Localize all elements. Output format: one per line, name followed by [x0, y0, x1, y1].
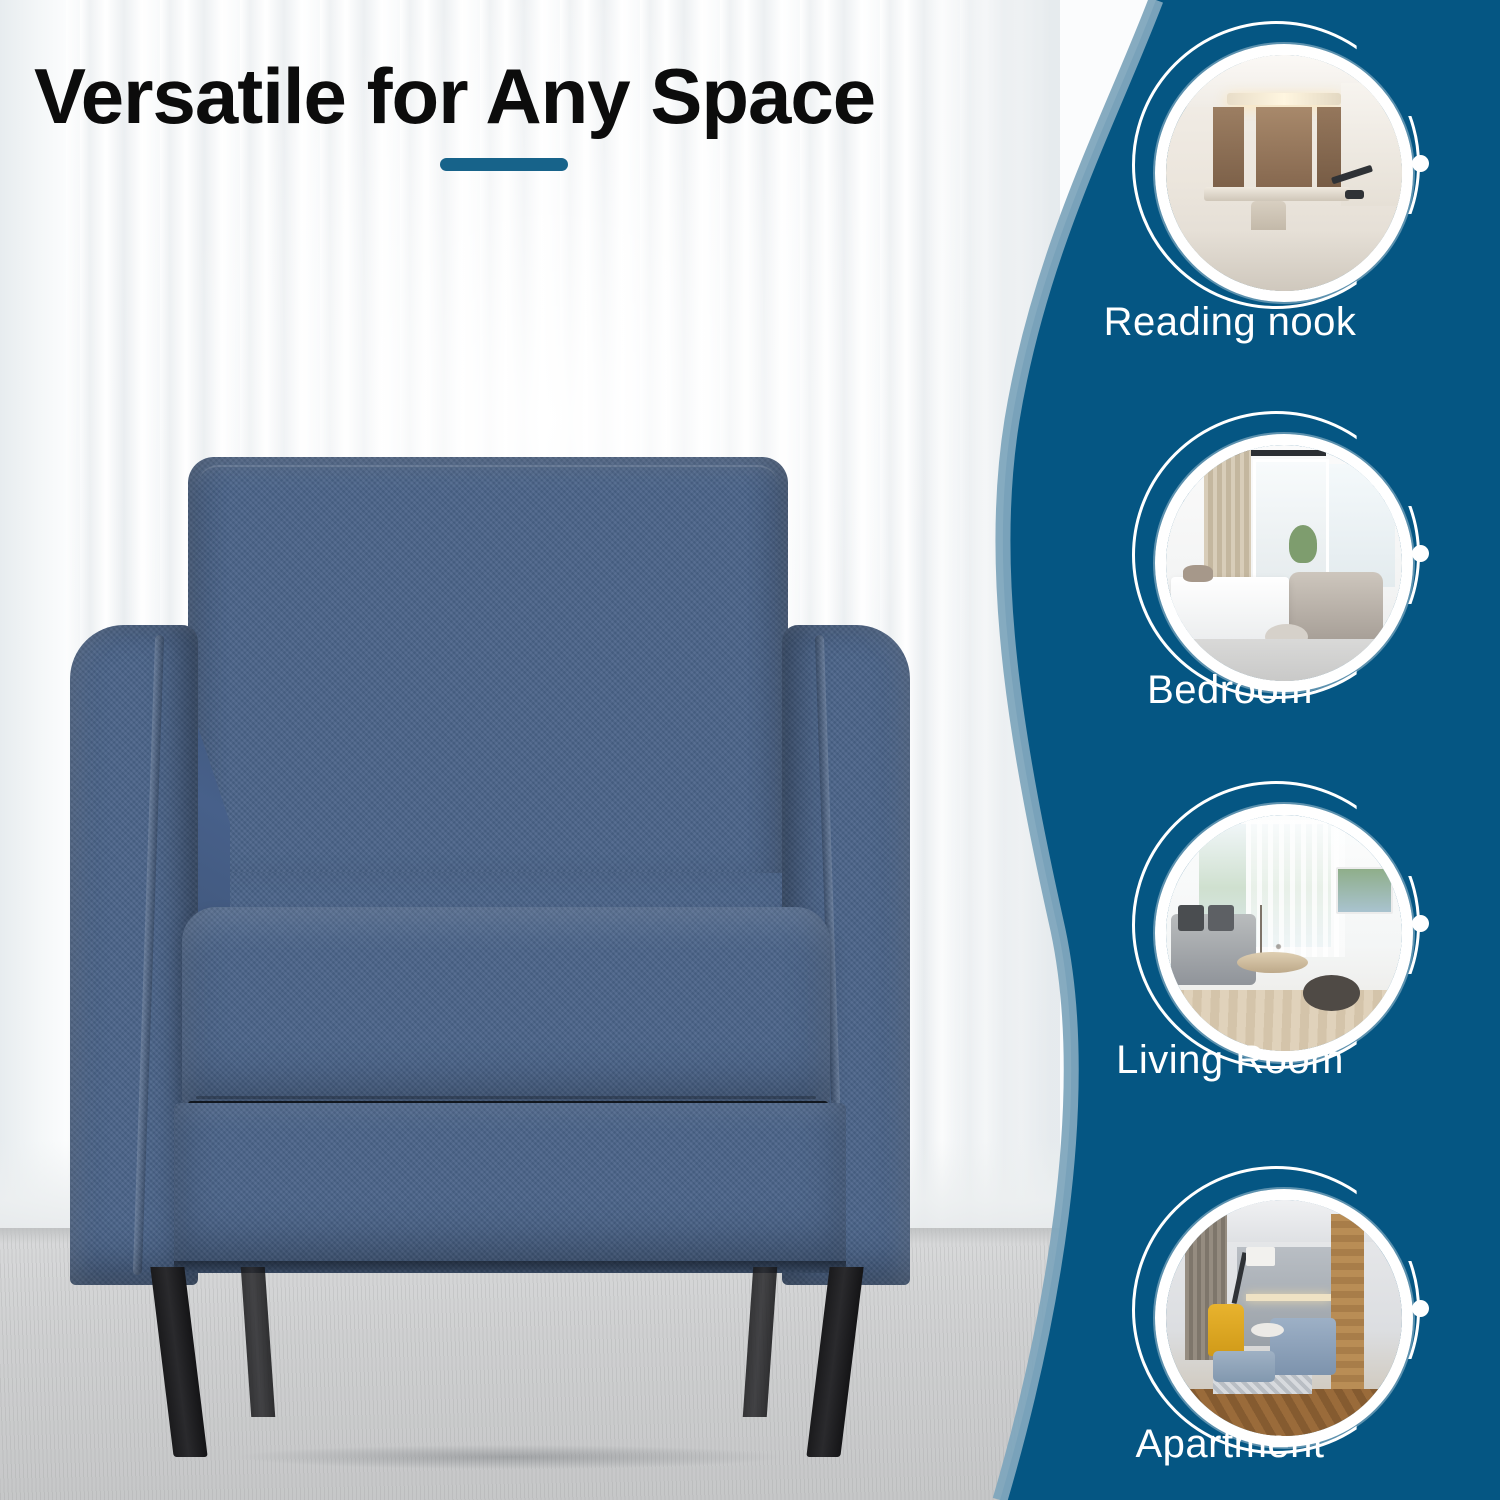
chair-leg-rear-right: [743, 1267, 777, 1417]
orbit-dot-icon: [1412, 1300, 1429, 1317]
chair-leg-rear-left: [241, 1267, 275, 1417]
living-room-thumbnail: [1155, 804, 1413, 1062]
feature-item-bedroom[interactable]: [960, 412, 1500, 712]
features-panel: Reading nook Bedroom: [960, 0, 1500, 1500]
marketing-image-canvas: Versatile for Any Space: [0, 0, 1500, 1500]
feature-label-bedroom: Bedroom: [960, 668, 1500, 713]
page-title: Versatile for Any Space: [34, 56, 1044, 137]
chair-back-cushion: [188, 457, 788, 917]
apartment-thumbnail: [1155, 1189, 1413, 1447]
chair-seat-cushion: [182, 907, 830, 1115]
chair-base-shadow: [174, 1261, 846, 1273]
reading-nook-thumbnail: [1155, 44, 1413, 302]
chair-floor-shadow: [130, 1440, 890, 1474]
features-list: Reading nook Bedroom: [960, 0, 1500, 1500]
accent-armchair: [70, 455, 950, 1465]
orbit-dot-icon: [1412, 545, 1429, 562]
product-photo: [0, 0, 1060, 1500]
feature-label-reading-nook: Reading nook: [960, 300, 1500, 345]
feature-label-apartment: Apartment: [960, 1422, 1500, 1467]
chair-leg-front-left: [150, 1267, 207, 1457]
feature-label-living-room: Living Room: [960, 1038, 1500, 1083]
feature-item-living-room[interactable]: [960, 782, 1500, 1082]
bedroom-thumbnail: [1155, 434, 1413, 692]
title-accent-bar: [440, 158, 568, 171]
window-left-edge: [0, 0, 66, 1235]
orbit-dot-icon: [1412, 915, 1429, 932]
chair-leg-front-right: [806, 1267, 863, 1457]
orbit-dot-icon: [1412, 155, 1429, 172]
feature-item-reading-nook[interactable]: [960, 22, 1500, 322]
chair-base-rail: [174, 1103, 846, 1273]
